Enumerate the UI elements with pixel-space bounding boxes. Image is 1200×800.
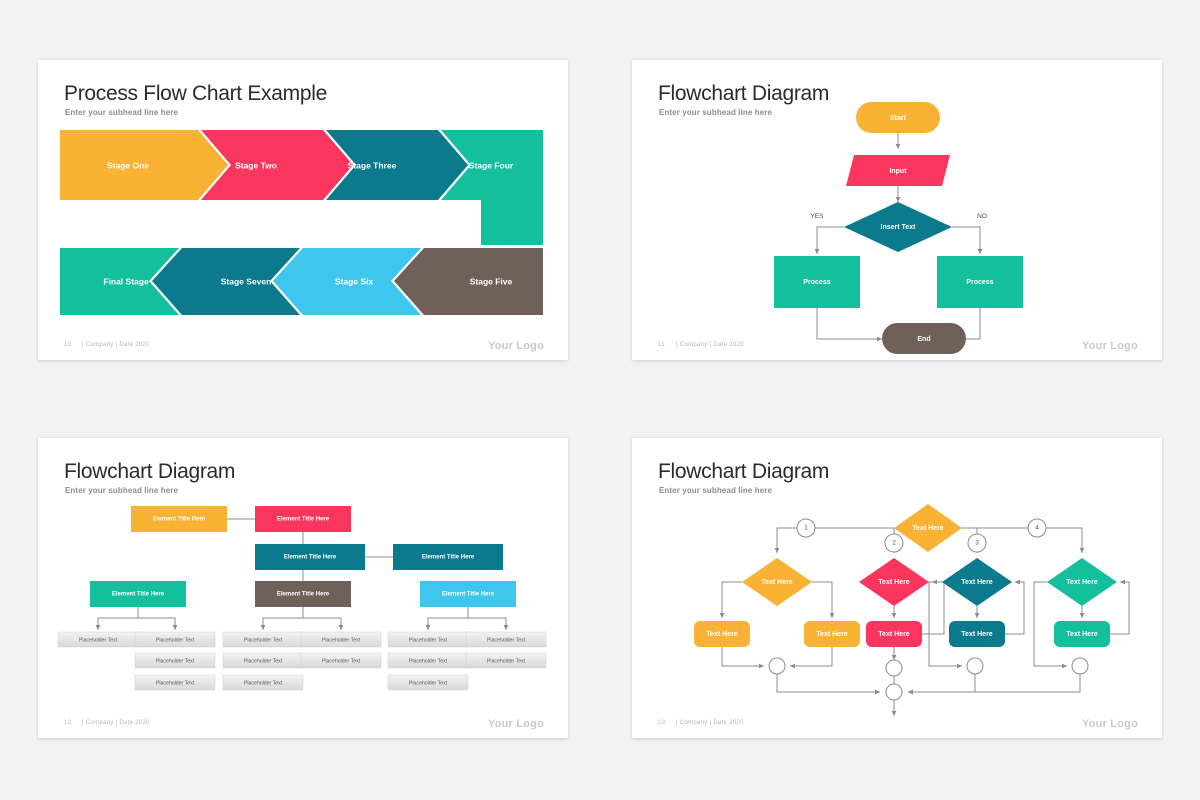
chevron-label: Stage Five (470, 276, 513, 286)
merge-circle[interactable] (886, 660, 902, 676)
placeholder-label: Placeholder Text (487, 637, 526, 643)
chevron-label: Stage Two (235, 160, 277, 170)
placeholder-label: Placeholder Text (244, 680, 283, 686)
chevron-stage-five[interactable] (394, 248, 543, 315)
placeholder-label: Placeholder Text (156, 680, 195, 686)
node-label: Text Here (961, 631, 992, 638)
footer-logo: Your Logo (488, 718, 544, 730)
footer-meta: | Company | Date 2020 (676, 720, 744, 726)
element-label: Element Title Here (442, 592, 495, 598)
node-label: Start (890, 115, 907, 122)
node-label: End (917, 336, 930, 343)
footer-page-number: 10 (64, 342, 71, 348)
connector-number: 2 (892, 540, 896, 547)
slide-flowchart-diagram-swimlane[interactable]: Flowchart Diagram Enter your subhead lin… (632, 438, 1162, 738)
placeholder-group-brown: Placeholder Text Placeholder Text Placeh… (223, 632, 381, 690)
node-label: Text Here (1066, 579, 1097, 586)
node-label: Text Here (878, 579, 909, 586)
placeholder-label: Placeholder Text (409, 680, 448, 686)
merge-circle[interactable] (769, 658, 785, 674)
chevron-label: Final Stage (103, 276, 149, 286)
placeholder-label: Placeholder Text (156, 658, 195, 664)
branch-label-no: NO (977, 213, 987, 220)
placeholder-label: Placeholder Text (409, 637, 448, 643)
element-label: Element Title Here (277, 517, 330, 523)
chevron-label: Stage Seven (221, 276, 272, 286)
connector-number: 4 (1035, 525, 1039, 532)
merge-circle[interactable] (967, 658, 983, 674)
footer-meta: | Company | Date 2020 (82, 342, 150, 348)
slide-flowchart-diagram-basic[interactable]: Flowchart Diagram Enter your subhead lin… (632, 60, 1162, 360)
element-label: Element Title Here (284, 555, 337, 561)
node-label: Input (889, 168, 907, 175)
node-label: Text Here (912, 525, 943, 532)
node-label: Process (803, 279, 830, 286)
node-label: Insert Text (881, 224, 917, 231)
node-label: Text Here (816, 631, 847, 638)
process-flow-graphic: Stage One Stage Two Stage Three Stage Fo… (38, 60, 568, 360)
connector-number: 1 (804, 525, 808, 532)
final-merge-circle[interactable] (886, 684, 902, 700)
placeholder-label: Placeholder Text (244, 658, 283, 664)
connector-number: 3 (975, 540, 979, 547)
placeholder-label: Placeholder Text (409, 658, 448, 664)
placeholder-label: Placeholder Text (322, 637, 361, 643)
node-label: Text Here (1066, 631, 1097, 638)
slide-deck: Process Flow Chart Example Enter your su… (0, 0, 1200, 800)
footer-meta: | Company | Date 2020 (82, 720, 150, 726)
element-label: Element Title Here (112, 592, 165, 598)
chevron-label: Stage Three (348, 160, 397, 170)
placeholder-group-green: Placeholder Text Placeholder Text Placeh… (58, 632, 215, 690)
chevron-stage-four[interactable] (441, 130, 543, 245)
node-label: Text Here (761, 579, 792, 586)
flowchart-graphic: Start Input Insert Text YES NO Process P… (632, 60, 1162, 360)
placeholder-label: Placeholder Text (322, 658, 361, 664)
footer-logo: Your Logo (1082, 340, 1138, 352)
footer-logo: Your Logo (488, 340, 544, 352)
node-label: Text Here (706, 631, 737, 638)
footer-logo: Your Logo (1082, 718, 1138, 730)
element-label: Element Title Here (153, 517, 206, 523)
node-label: Text Here (878, 631, 909, 638)
merge-circle[interactable] (1072, 658, 1088, 674)
element-label: Element Title Here (422, 555, 475, 561)
chevron-label: Stage Six (335, 276, 374, 286)
chevron-label: Stage One (107, 160, 149, 170)
footer-meta: | Company | Date 2020 (676, 342, 744, 348)
tree-graphic: Element Title Here Element Title Here El… (38, 438, 568, 738)
placeholder-label: Placeholder Text (156, 637, 195, 643)
node-label: Process (966, 279, 993, 286)
placeholder-label: Placeholder Text (244, 637, 283, 643)
element-label: Element Title Here (277, 592, 330, 598)
placeholder-label: Placeholder Text (79, 637, 118, 643)
footer-page-number: 11 (658, 342, 665, 348)
placeholder-group-cyan: Placeholder Text Placeholder Text Placeh… (388, 632, 546, 690)
footer-page-number: 12 (64, 720, 71, 726)
slide-flowchart-diagram-tree[interactable]: Flowchart Diagram Enter your subhead lin… (38, 438, 568, 738)
placeholder-label: Placeholder Text (487, 658, 526, 664)
footer-page-number: 13 (658, 720, 665, 726)
node-label: Text Here (961, 579, 992, 586)
chevron-label: Stage Four (469, 160, 514, 170)
branch-label-yes: YES (810, 213, 824, 220)
swimlane-graphic: 1 2 3 4 Text Here Text Here Text Here Te… (632, 438, 1162, 738)
slide-process-flow-chart-example[interactable]: Process Flow Chart Example Enter your su… (38, 60, 568, 360)
